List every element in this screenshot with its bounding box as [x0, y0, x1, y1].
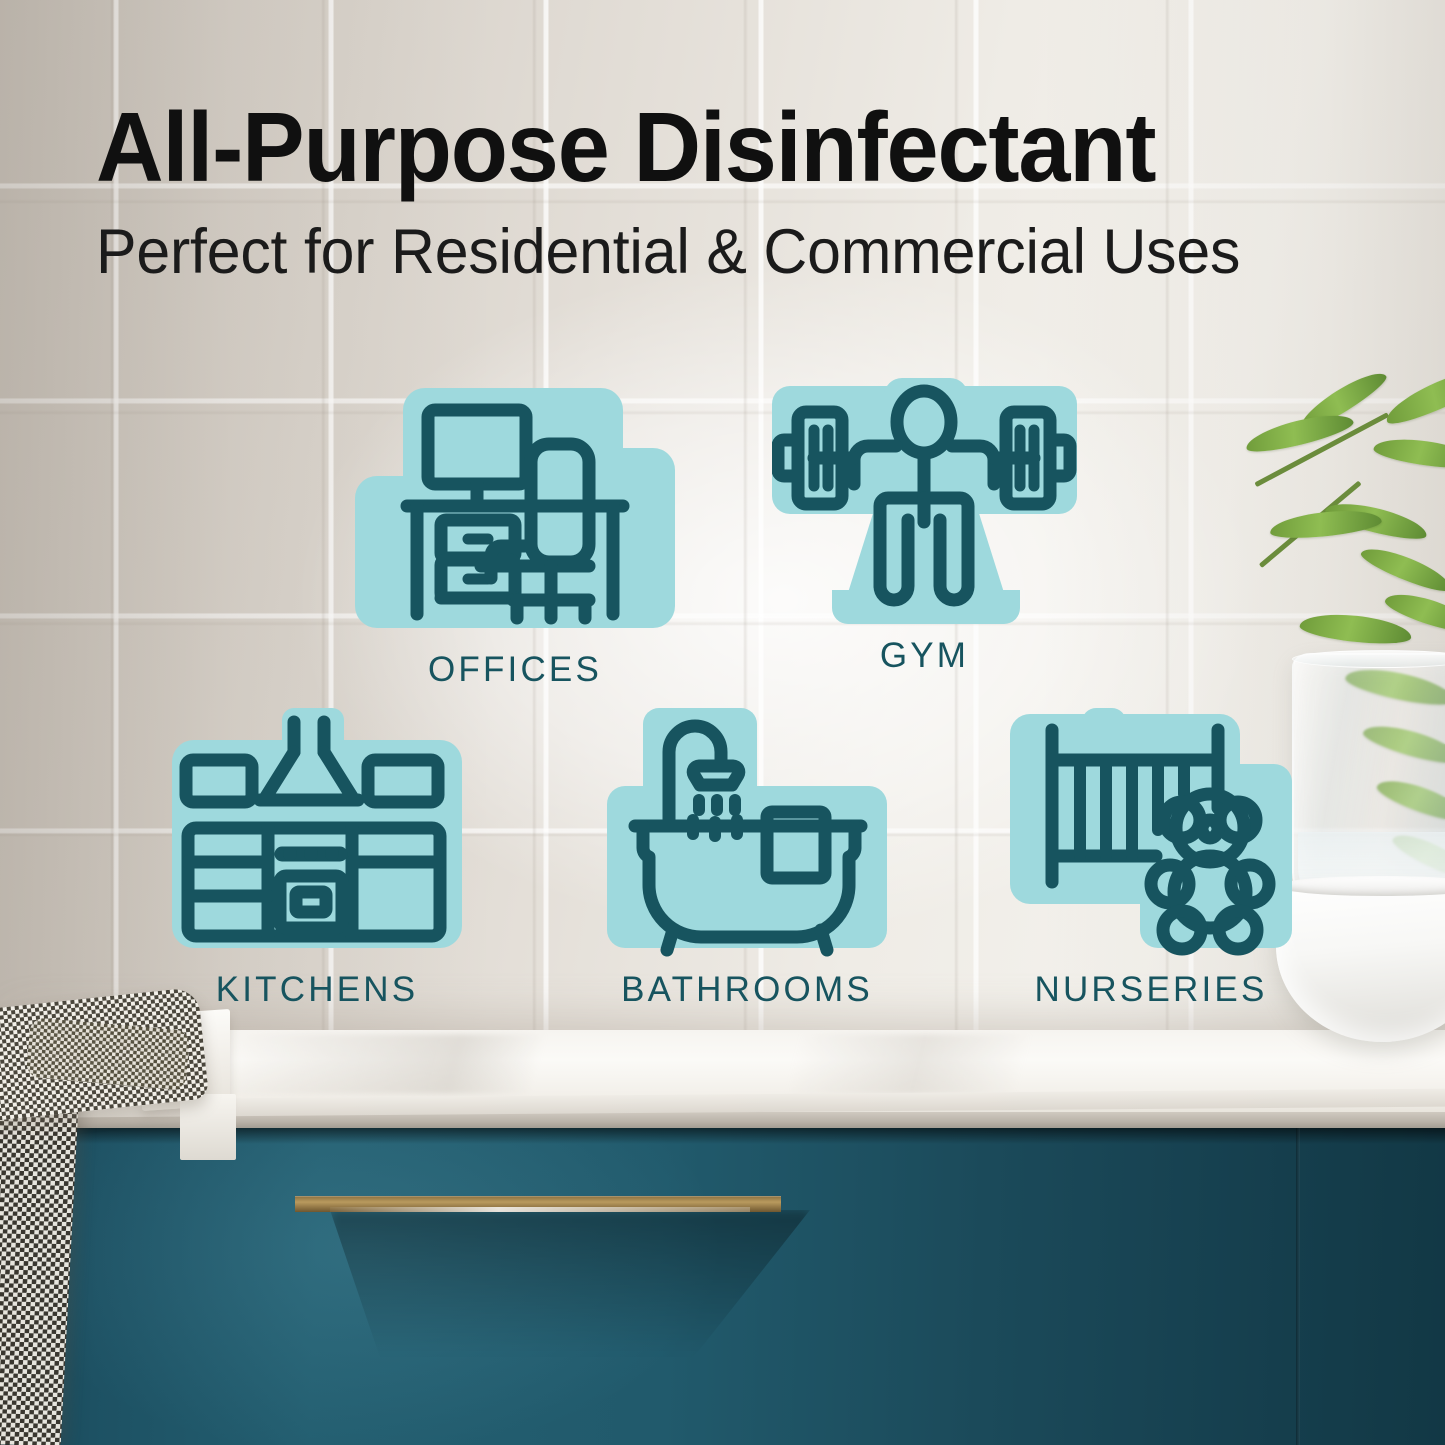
white-box-lower	[180, 1094, 236, 1160]
towel-drape	[0, 1089, 79, 1445]
kitchen-cabinets-stove-icon	[172, 708, 462, 958]
leaf	[1269, 506, 1383, 542]
leaf	[1243, 408, 1356, 458]
use-case-nurseries[interactable]: NURSERIES	[1010, 708, 1292, 1018]
bathrooms-label: BATHROOMS	[607, 970, 887, 1010]
page-title: All-Purpose Disinfectant	[96, 96, 1299, 199]
use-case-gym[interactable]: GYM	[772, 378, 1077, 688]
handle-highlight	[330, 1207, 750, 1212]
use-case-bathrooms[interactable]: BATHROOMS	[607, 708, 887, 1018]
leaf	[1358, 541, 1445, 597]
leaf	[1299, 610, 1413, 648]
kitchens-label: KITCHENS	[172, 970, 462, 1010]
use-case-offices[interactable]: OFFICES	[355, 388, 675, 688]
page-subtitle: Perfect for Residential & Commercial Use…	[96, 218, 1331, 287]
cabinet-seam	[1296, 1128, 1300, 1445]
nurseries-label: NURSERIES	[1010, 970, 1292, 1010]
bathtub-shower-icon	[607, 708, 887, 958]
product-infographic: All-Purpose Disinfectant Perfect for Res…	[0, 0, 1445, 1445]
offices-label: OFFICES	[355, 650, 675, 690]
crib-teddy-bear-icon	[1010, 708, 1292, 958]
gym-label: GYM	[772, 636, 1077, 676]
countertop-reflection	[230, 1034, 1270, 1094]
towel-group	[0, 998, 224, 1445]
office-desk-chair-icon	[355, 388, 675, 638]
weightlifter-barbell-icon	[772, 378, 1077, 628]
leaf	[1372, 434, 1445, 472]
use-case-kitchens[interactable]: KITCHENS	[172, 708, 462, 1018]
ceramic-bowl	[1276, 882, 1445, 1042]
